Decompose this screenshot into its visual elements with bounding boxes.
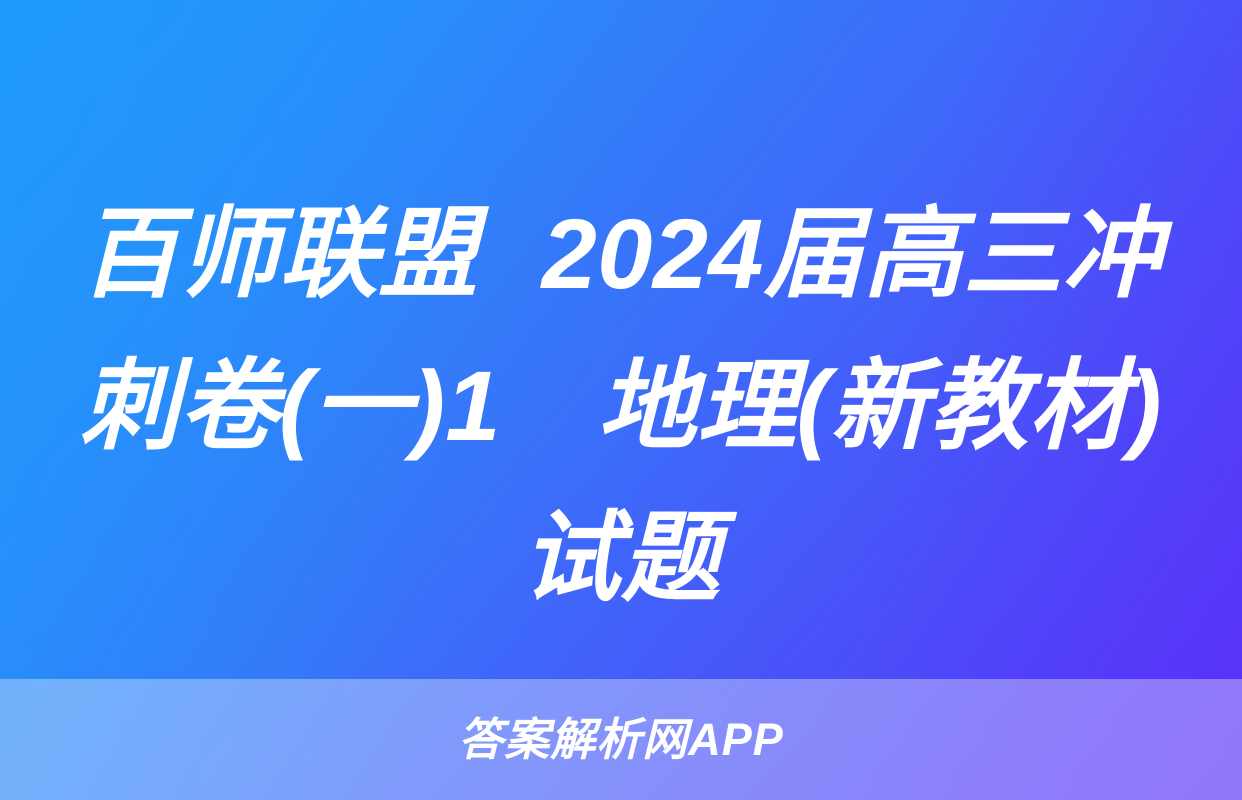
title-line-2-segment-2: 地理(新教材) <box>598 330 1162 482</box>
title-line-2: 刺卷(一)1 地理(新教材) <box>80 330 1162 482</box>
title-line-1-segment-2: 2024届高三冲 <box>542 178 1162 330</box>
footer-watermark-bar: 答案解析网APP <box>0 679 1242 800</box>
title-line-3: 试题 <box>80 482 1162 634</box>
title-line-1: 百师联盟 2024届高三冲 <box>80 178 1162 330</box>
title-line-2-segment-1: 刺卷(一)1 <box>80 330 501 482</box>
footer-watermark-label: 答案解析网APP <box>458 717 784 762</box>
poster-canvas: 百师联盟 2024届高三冲 刺卷(一)1 地理(新教材) 试题 答案解析网APP <box>0 0 1242 800</box>
title-line-1-segment-1: 百师联盟 <box>80 178 478 330</box>
page-title: 百师联盟 2024届高三冲 刺卷(一)1 地理(新教材) 试题 <box>0 178 1242 634</box>
title-line-3-segment-1: 试题 <box>522 502 721 613</box>
